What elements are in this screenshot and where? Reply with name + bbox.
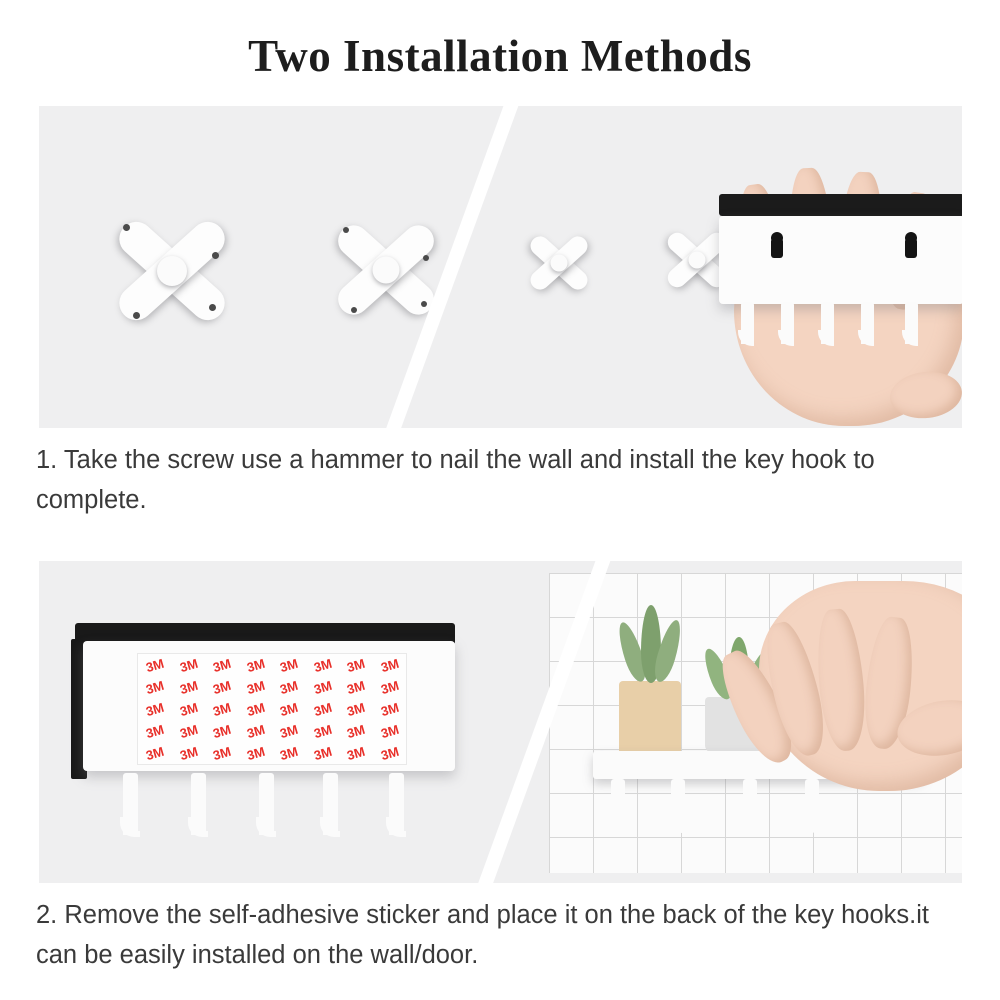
- rack-shelf-top: [719, 194, 962, 216]
- rack-hook: [741, 302, 754, 344]
- rack-hook: [323, 773, 338, 835]
- step-2-image-panel: 3M 3M 3M 3M 3M 3M 3M 3M 3M 3M 3M 3M 3M 3…: [39, 561, 962, 883]
- x-wall-hook: [107, 206, 237, 336]
- screw-head-icon: [212, 252, 219, 259]
- x-wall-hook: [327, 211, 445, 329]
- rack-hook: [123, 773, 138, 835]
- rack-hook: [781, 302, 794, 344]
- step-1-left-scene: [39, 106, 459, 428]
- step-1-image-panel: [39, 106, 962, 428]
- screw-head-icon: [209, 304, 216, 311]
- step-2-right-scene: [549, 561, 962, 883]
- screw-head-icon: [343, 227, 349, 233]
- rack-hook: [821, 302, 834, 344]
- rack-hook: [611, 779, 625, 831]
- x-hook-knob: [551, 255, 568, 272]
- adhesive-pad: 3M 3M 3M 3M 3M 3M 3M 3M 3M 3M 3M 3M 3M 3…: [137, 653, 407, 765]
- rack-body: [719, 216, 962, 304]
- key-hook-rack: [719, 194, 962, 374]
- rack-hook: [191, 773, 206, 835]
- screw-head-icon: [351, 307, 357, 313]
- keyhole-slot-icon: [905, 236, 917, 258]
- installation-instructions-page: Two Installation Methods: [0, 0, 1000, 1000]
- step-1-right-scene: [479, 106, 962, 428]
- screw-head-icon: [423, 255, 429, 261]
- hand: [699, 561, 962, 821]
- x-hook-knob: [373, 257, 400, 284]
- x-wall-hook: [524, 228, 594, 298]
- keyhole-slot-icon: [771, 236, 783, 258]
- step-1-caption: 1. Take the screw use a hammer to nail t…: [36, 440, 966, 520]
- rack-hook: [861, 302, 874, 344]
- rack-hook: [905, 302, 918, 344]
- rack-hook: [389, 773, 404, 835]
- page-title: Two Installation Methods: [0, 30, 1000, 82]
- screw-head-icon: [133, 312, 140, 319]
- screw-head-icon: [421, 301, 427, 307]
- rack-hook: [671, 779, 685, 831]
- rack-hook: [259, 773, 274, 835]
- screw-head-icon: [123, 224, 130, 231]
- step-2-left-scene: 3M 3M 3M 3M 3M 3M 3M 3M 3M 3M 3M 3M 3M 3…: [39, 561, 539, 883]
- x-hook-knob: [157, 256, 187, 286]
- step-2-caption: 2. Remove the self-adhesive sticker and …: [36, 895, 966, 975]
